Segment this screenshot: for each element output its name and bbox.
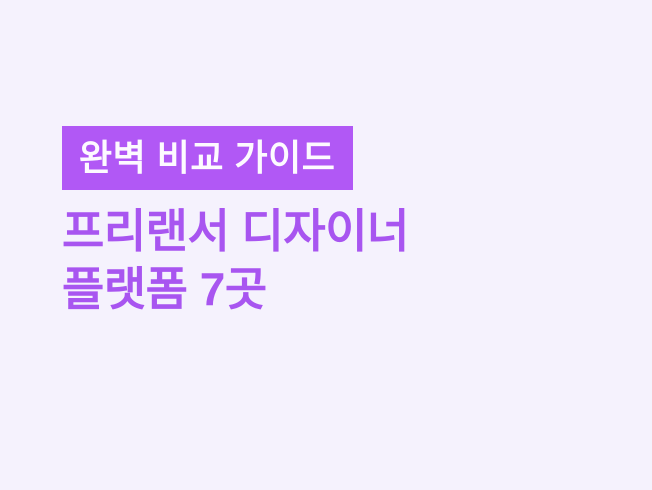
headline-line-2: 플랫폼 7곳 xyxy=(62,260,602,318)
headline-line-1: 프리랜서 디자이너 xyxy=(62,202,602,260)
badge-label: 완벽 비교 가이드 xyxy=(62,126,353,190)
page-title: 프리랜서 디자이너 플랫폼 7곳 xyxy=(62,202,602,318)
text-content-block: 완벽 비교 가이드 프리랜서 디자이너 플랫폼 7곳 xyxy=(62,126,602,318)
poster-canvas: 완벽 비교 가이드 프리랜서 디자이너 플랫폼 7곳 xyxy=(0,0,652,490)
